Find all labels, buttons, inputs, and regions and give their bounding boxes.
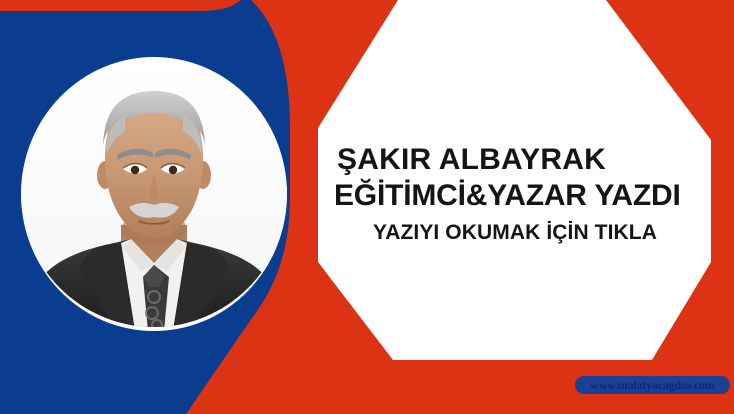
headline-block: ŞAKIR ALBAYRAK EĞİTİMCİ&YAZAR YAZDI YAZI…: [318, 142, 712, 248]
call-to-action-text[interactable]: YAZIYI OKUMAK İÇİN TIKLA: [318, 218, 712, 248]
headline-line-2: EĞİTİMCİ&YAZAR YAZDI: [318, 178, 712, 214]
promo-banner[interactable]: ŞAKIR ALBAYRAK EĞİTİMCİ&YAZAR YAZDI YAZI…: [0, 0, 734, 414]
headline-line-1: ŞAKIR ALBAYRAK: [318, 142, 712, 178]
watermark-badge[interactable]: www.malatyacagdas.com: [575, 376, 730, 394]
watermark-url: www.malatyacagdas.com: [590, 379, 714, 391]
